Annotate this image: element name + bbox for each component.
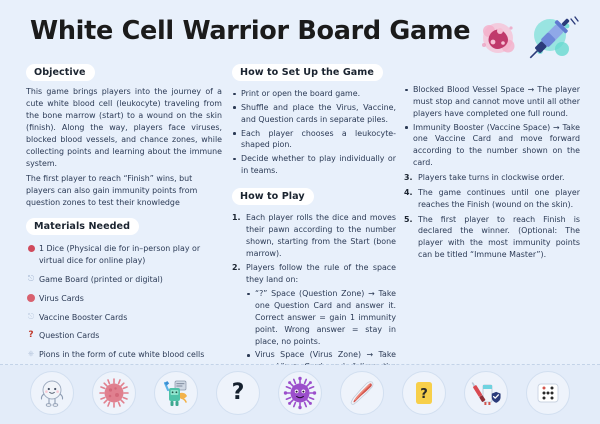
question-mark-glyph: ? [232,382,245,404]
header-art-svg [470,13,590,63]
list-item: Shuffle and place the Virus, Vaccine, an… [232,102,396,126]
materials-item-label: Pions in the form of cute white blood ce… [39,350,204,359]
list-item: The first player to reach Finish is decl… [404,214,580,261]
vaccine-character-chip-icon[interactable] [154,371,198,415]
column-middle: How to Set Up the Game Print or open the… [232,62,396,400]
column-left: Objective This game brings players into … [26,62,222,368]
objective-paragraph-2: The first player to reach “Finish” wins,… [26,173,222,209]
list-item: Print or open the board game. [232,88,396,100]
list-item: The game continues until one player reac… [404,187,580,211]
header-artwork [470,13,590,63]
dice-chip-icon[interactable] [526,371,570,415]
list-item: Decide whether to play individually or i… [232,153,396,177]
blocked-blood-vessel-chip-icon[interactable] [340,371,384,415]
white-blood-cell-icon [482,23,515,53]
section-heading-objective: Objective [26,64,95,81]
virus-icon [26,293,36,303]
list-item: ⎋ Vaccine Booster Cards [26,312,222,324]
red-virus-chip-icon[interactable] [92,371,136,415]
list-item: Each player chooses a leukocyte-shaped p… [232,128,396,152]
materials-list: 1 Dice (Physical die for in–person play … [26,243,222,361]
list-item: ⎋ Game Board (printed or digital) [26,274,222,286]
play-step-label: Players follow the rule of the space the… [246,263,396,284]
list-item: ? Question Cards [26,330,222,342]
svg-text:?: ? [420,387,428,402]
materials-item-label: Game Board (printed or digital) [39,275,163,284]
section-heading-setup: How to Set Up the Game [232,64,383,81]
page-title: White Cell Warrior Board Game [30,16,470,46]
footer-icon-row: ? [30,369,570,417]
question-mark-icon: ? [26,330,36,340]
play-steps-list-part2: Players take turns in clockwise order. T… [404,172,580,261]
pion-icon: ⎈ [26,349,36,359]
vaccine-booster-chip-icon[interactable] [464,371,508,415]
poster-header: White Cell Warrior Board Game [0,0,600,62]
list-item: Virus Cards [26,293,222,305]
purple-virus-chip-icon[interactable] [278,371,322,415]
column-right: Blocked Blood Vessel Space → The player … [404,82,580,264]
white-blood-cell-chip-icon[interactable] [30,371,74,415]
list-item: Blocked Blood Vessel Space → The player … [404,84,580,120]
materials-item-label: Vaccine Booster Cards [39,313,127,322]
objective-paragraph-1: This game brings players into the journe… [26,86,222,170]
footer-divider [0,364,600,365]
list-item: Each player rolls the dice and moves the… [232,212,396,259]
materials-item-label: Virus Cards [39,294,84,303]
question-card-chip-icon[interactable]: ? [402,371,446,415]
vaccine-icon: ⎋ [26,312,36,322]
materials-item-label: Question Cards [39,331,99,340]
setup-list: Print or open the board game. Shuffle an… [232,88,396,177]
list-item: Players take turns in clockwise order. [404,172,580,184]
section-heading-materials: Materials Needed [26,218,139,235]
list-item: Immunity Booster (Vaccine Space) → Take … [404,122,580,169]
list-item: “?” Space (Question Zone) → Take one Que… [246,288,396,347]
section-heading-play: How to Play [232,188,314,205]
question-mark-chip-icon[interactable]: ? [216,371,260,415]
poster-root: White Cell Warrior Board Game [0,0,600,424]
dice-icon [26,243,36,253]
list-item: 1 Dice (Physical die for in–person play … [26,243,222,267]
play-step-sublist-part2: Blocked Blood Vessel Space → The player … [404,84,580,169]
syringe-icon [525,14,578,63]
materials-item-label: 1 Dice (Physical die for in–person play … [39,244,200,265]
list-item: ⎈ Pions in the form of cute white blood … [26,349,222,361]
game-board-icon: ⎋ [26,274,36,284]
